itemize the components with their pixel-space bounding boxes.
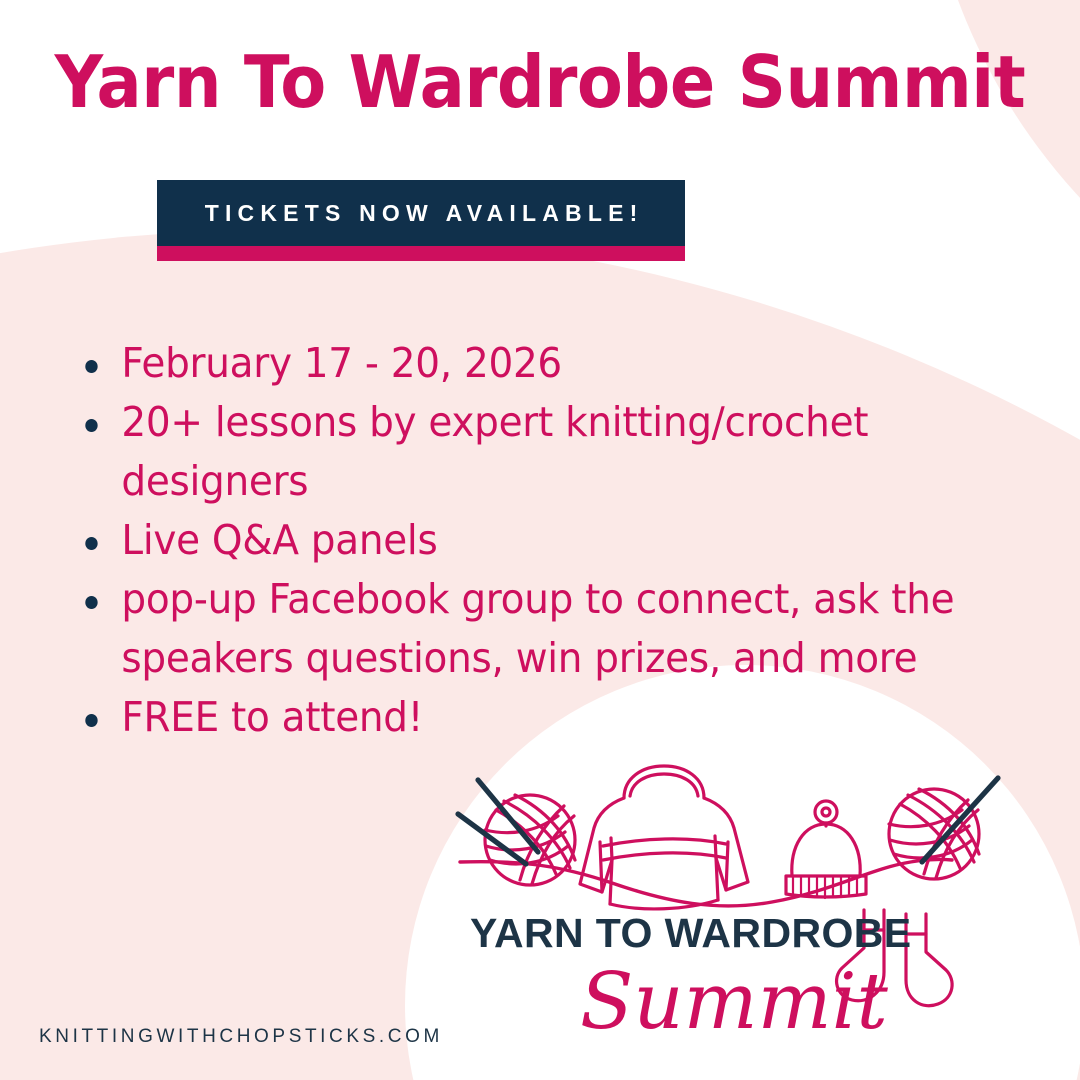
footer-website: KNITTINGWITHCHOPSTICKS.COM [39, 1026, 443, 1048]
bullet-dot-icon [85, 714, 97, 727]
logo-svg: YARN TO WARDROBE Summit [452, 742, 1012, 1042]
list-item: February 17 - 20, 2026 [72, 334, 975, 393]
bullet-dot-icon [85, 419, 97, 432]
bullet-dot-icon [85, 360, 97, 373]
knitting-needles-icon [458, 780, 538, 864]
sweater-icon [580, 766, 748, 909]
badge-label: TICKETS NOW AVAILABLE! [199, 200, 644, 227]
page-title: Yarn To Wardrobe Summit [38, 46, 1042, 118]
bullet-dot-icon [85, 537, 97, 550]
event-logo: YARN TO WARDROBE Summit [452, 742, 1012, 1042]
list-item-label: pop-up Facebook group to connect, ask th… [121, 575, 954, 682]
feature-list: February 17 - 20, 2026 20+ lessons by ex… [72, 334, 1022, 747]
tickets-badge: TICKETS NOW AVAILABLE! [157, 180, 685, 261]
promo-poster: Yarn To Wardrobe Summit TICKETS NOW AVAI… [0, 0, 1080, 1080]
list-item-label: 20+ lessons by expert knitting/crochet d… [121, 398, 868, 505]
list-item: Live Q&A panels [72, 511, 975, 570]
badge-box: TICKETS NOW AVAILABLE! [157, 180, 685, 246]
list-item-label: FREE to attend! [121, 693, 423, 741]
list-item: FREE to attend! [72, 688, 975, 747]
badge-accent-bar [157, 246, 685, 261]
list-item-label: February 17 - 20, 2026 [121, 339, 562, 387]
list-item-label: Live Q&A panels [121, 516, 437, 564]
list-item: pop-up Facebook group to connect, ask th… [72, 570, 975, 688]
logo-wordmark: YARN TO WARDROBE [470, 910, 912, 956]
list-item: 20+ lessons by expert knitting/crochet d… [72, 393, 975, 511]
bullet-dot-icon [85, 596, 97, 609]
logo-script-word: Summit [580, 957, 889, 1042]
beanie-hat-icon [786, 801, 866, 898]
yarn-ball-with-needle-icon [889, 789, 979, 879]
